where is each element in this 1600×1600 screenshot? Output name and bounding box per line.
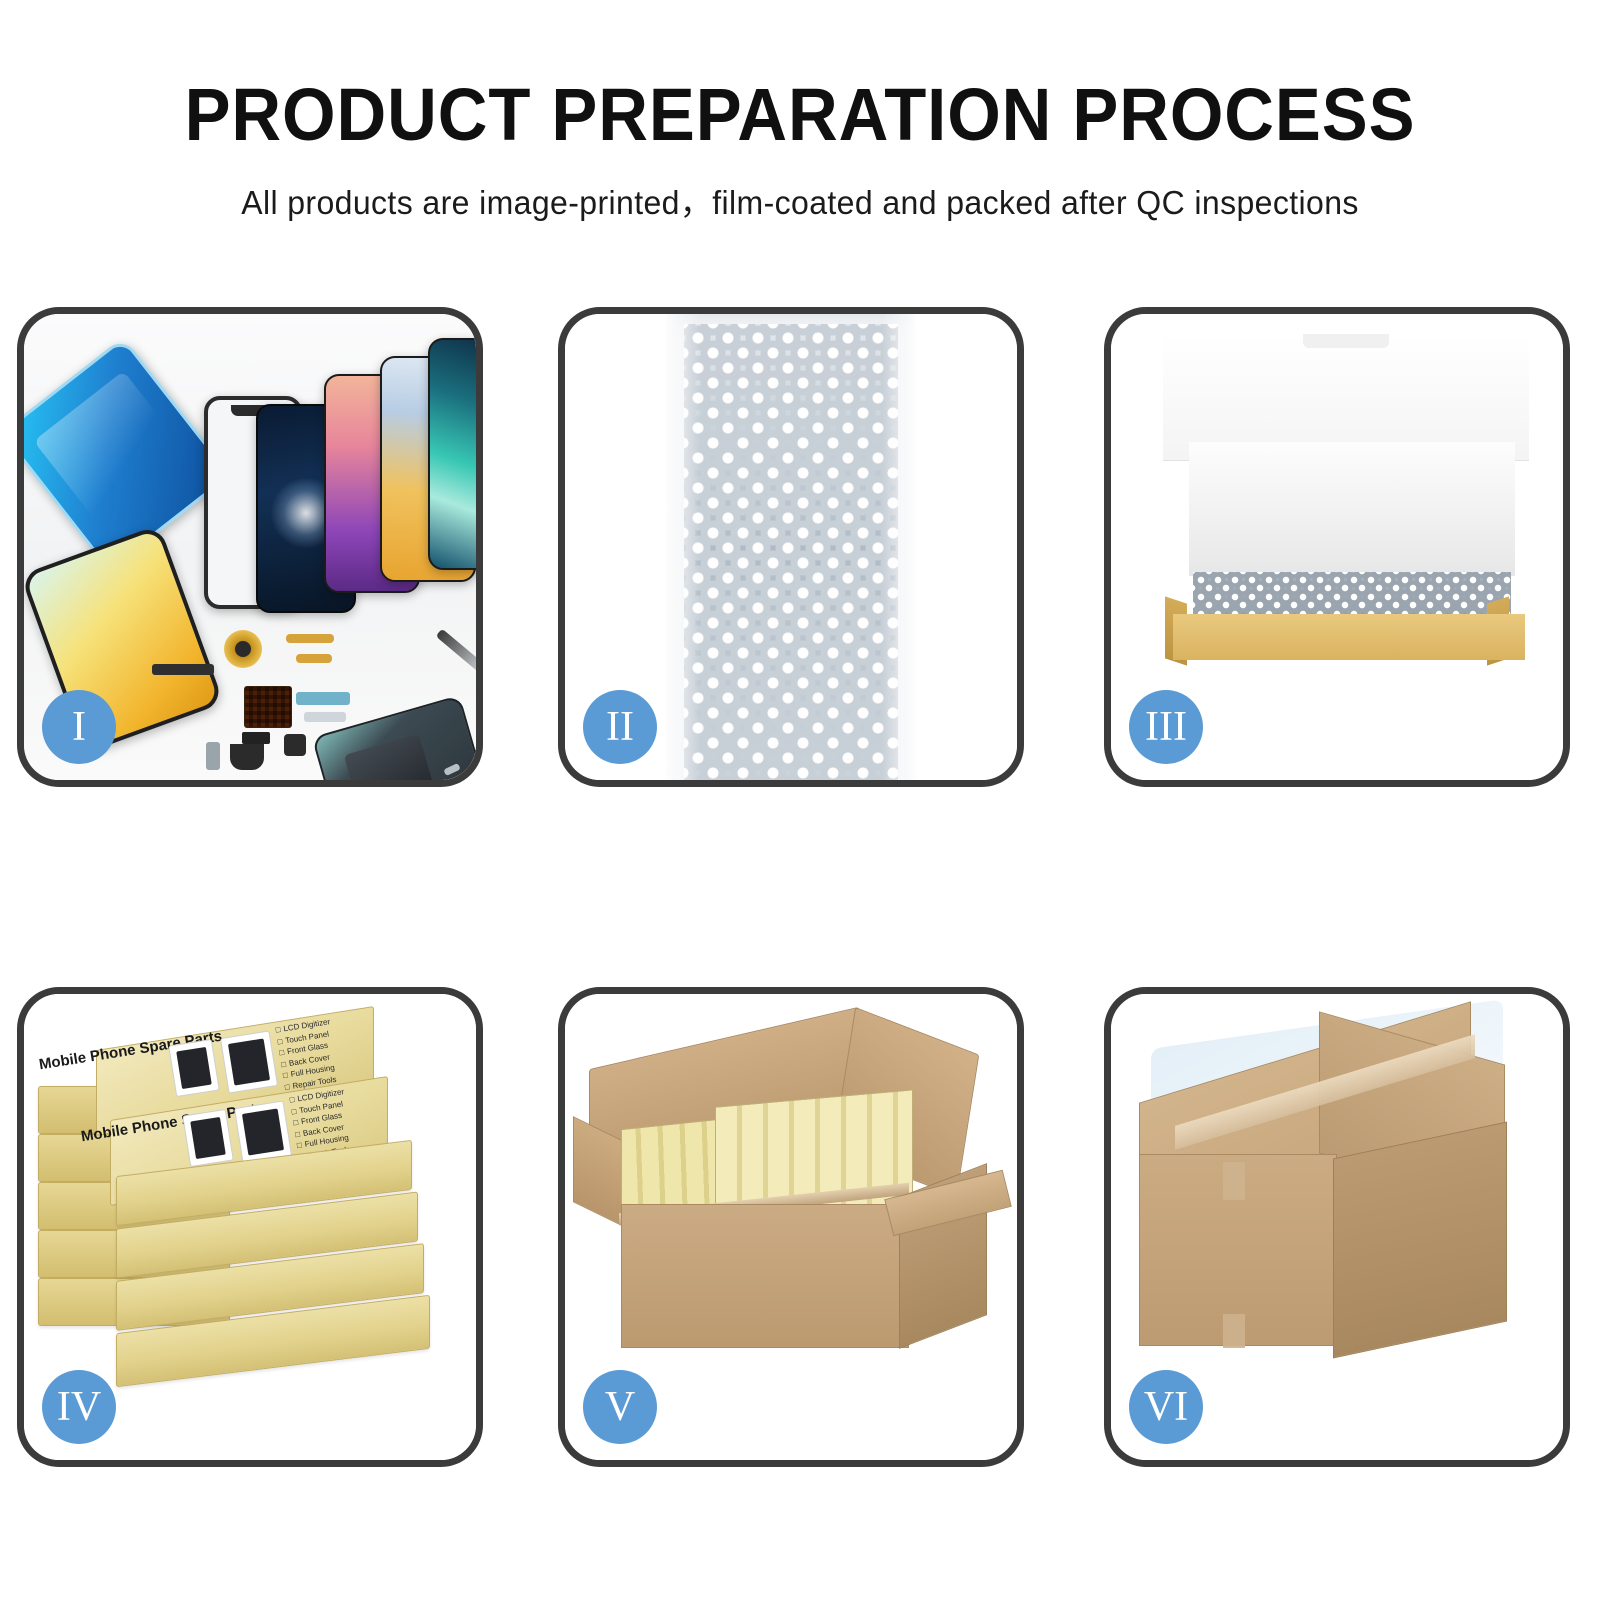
box-inner-liner-image [1189,442,1515,576]
sim-tray-part [206,742,220,770]
panel-badge-2: II [583,690,657,764]
camera-module-part [284,734,306,756]
speaker-part [230,744,264,770]
wireless-charging-coil-part [224,630,262,668]
process-panel-4: Mobile Phone Spare Parts LCD Digitizer T… [17,987,483,1467]
process-panel-grid: I II III [0,307,1600,1467]
panel-badge-5: V [583,1370,657,1444]
process-panel-1: I [17,307,483,787]
bubble-wrapped-product-in-box [1193,572,1511,616]
page-subtitle: All products are image-printed，film-coat… [24,176,1576,224]
retail-box-checklist: LCD Digitizer Touch Panel Front Glass Ba… [275,1016,340,1093]
connector-strip-part [152,664,214,675]
carton-seam-tape-lower [1223,1314,1245,1348]
process-panel-2: II [558,307,1024,787]
ribbon-cable-part [304,712,346,722]
small-board-part [242,732,270,744]
process-panel-5: V [558,987,1024,1467]
retail-box-window-right [220,1030,278,1093]
bubble-wrap-sleeve-image [666,314,916,780]
infographic-header: PRODUCT PREPARATION PROCESS All products… [0,0,1600,224]
carton-seam-tape-upper [1223,1162,1245,1200]
bubble-wrap-texture [684,324,898,780]
retail-box-window-right [234,1100,292,1163]
process-panel-3: III [1104,307,1570,787]
bubble-wrap-glare-right [882,314,916,780]
panel-badge-3: III [1129,690,1203,764]
flex-cable-part [296,654,332,663]
panel-badge-1: I [42,690,116,764]
page-title: PRODUCT PREPARATION PROCESS [56,78,1544,152]
ic-chip-part [244,686,292,728]
carton-front-face [621,1204,909,1348]
retail-box-window-left [182,1109,234,1167]
phone-teal-display-image [428,338,476,570]
box-front-panel-image [1173,614,1525,660]
retail-box-window-left [168,1039,220,1097]
flex-cable-part [286,634,334,643]
panel-badge-6: VI [1129,1370,1203,1444]
ribbon-cable-part [296,692,350,705]
carton-side-face [1333,1122,1507,1359]
panel-badge-4: IV [42,1370,116,1444]
bubble-wrap-glare-left [666,314,700,780]
process-panel-6: VI [1104,987,1570,1467]
